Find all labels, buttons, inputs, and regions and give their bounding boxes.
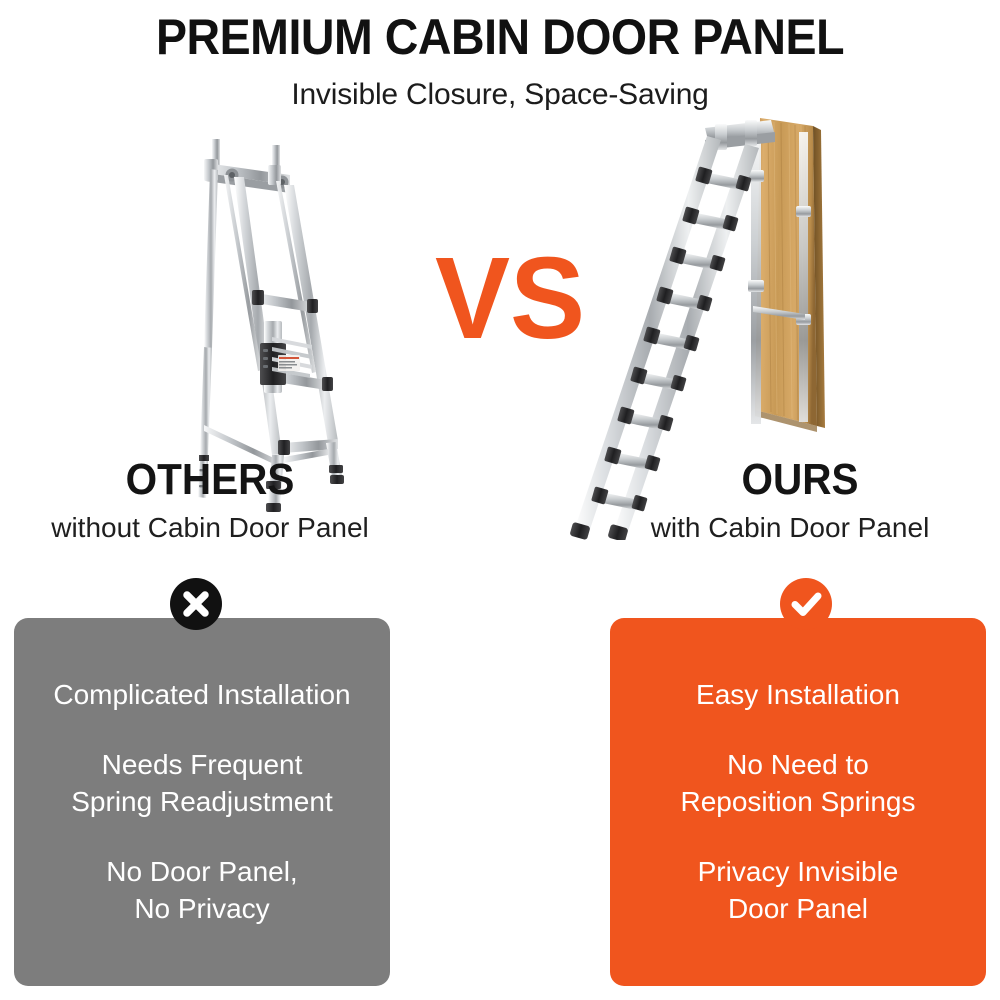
feature-panel-others: Complicated Installation Needs Frequent … xyxy=(14,618,390,986)
feature-point: Complicated Installation xyxy=(53,677,350,713)
wood-door-panel xyxy=(755,118,825,432)
feature-panel-ours: Easy Installation No Need to Reposition … xyxy=(610,618,986,986)
column-title-others: OTHERS xyxy=(44,455,375,505)
feature-point: Needs Frequent Spring Readjustment xyxy=(71,747,332,820)
check-mark-icon xyxy=(780,578,832,630)
versus-label: VS xyxy=(432,240,587,356)
feature-point: Easy Installation xyxy=(696,677,900,713)
page-title: PREMIUM CABIN DOOR PANEL xyxy=(35,8,965,66)
column-subtitle-ours: with Cabin Door Panel xyxy=(580,512,1000,544)
x-mark-icon xyxy=(170,578,222,630)
column-subtitle-others: without Cabin Door Panel xyxy=(0,512,420,544)
feature-point: No Door Panel, No Privacy xyxy=(106,854,297,927)
page-subtitle: Invisible Closure, Space-Saving xyxy=(0,78,1000,112)
column-title-ours: OURS xyxy=(634,455,965,505)
check-mark-glyph xyxy=(780,578,832,630)
feature-point: No Need to Reposition Springs xyxy=(680,747,915,820)
x-mark-glyph xyxy=(170,578,222,630)
feature-point: Privacy Invisible Door Panel xyxy=(698,854,899,927)
